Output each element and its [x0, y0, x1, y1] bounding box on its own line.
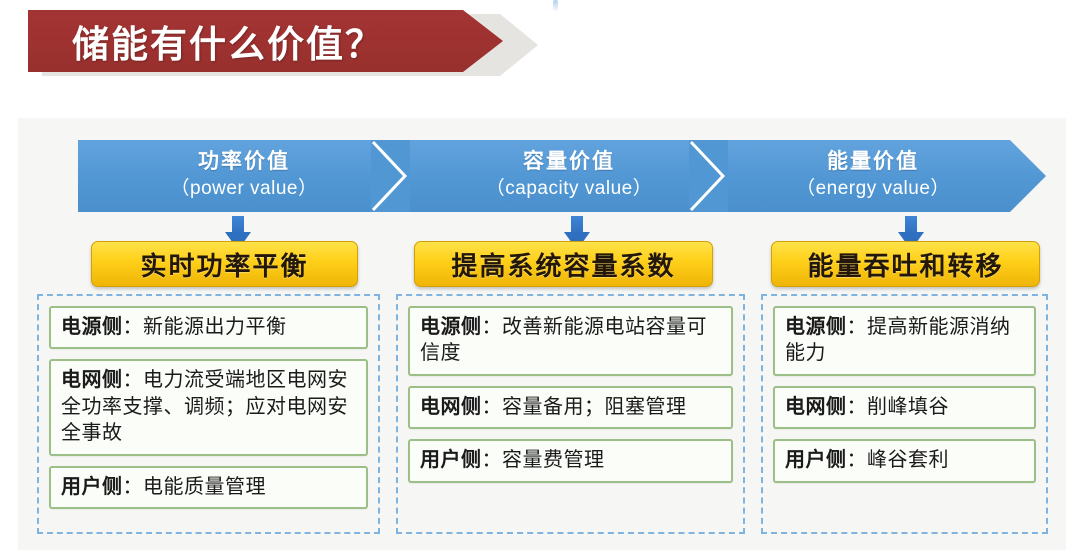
outcome-header-power[interactable]: 实时功率平衡: [91, 241, 358, 287]
value-segment-capacity[interactable]: 容量价值 （capacity value）: [410, 140, 728, 212]
list-item[interactable]: 电源侧：提高新能源消纳能力: [773, 306, 1036, 376]
outcome-header-energy-label: 能量吞吐和转移: [807, 246, 1003, 283]
list-item-text: 电网侧：容量备用；阻塞管理: [420, 394, 721, 420]
list-item-label: 用户侧: [785, 449, 847, 471]
outcome-header-capacity[interactable]: 提高系统容量系数: [414, 241, 713, 287]
outcome-header-power-label: 实时功率平衡: [140, 246, 308, 283]
list-item-value: 电能质量管理: [143, 476, 266, 498]
list-item-label: 电源侧: [785, 316, 847, 338]
list-item-text: 电源侧：新能源出力平衡: [61, 314, 356, 340]
list-item-text: 电源侧：改善新能源电站容量可信度: [420, 314, 721, 367]
list-item-sep: ：: [482, 396, 503, 418]
list-item-label: 电源侧: [420, 316, 482, 338]
list-item[interactable]: 电源侧：改善新能源电站容量可信度: [408, 306, 733, 376]
title-banner: 储能有什么价值？: [18, 10, 523, 76]
list-item-value: 削峰填谷: [867, 396, 949, 418]
list-item-text: 电网侧：削峰填谷: [785, 394, 1024, 420]
list-item-text: 电网侧：电力流受端地区电网安全功率支撑、调频；应对电网安全事故: [61, 367, 356, 446]
list-item-label: 用户侧: [61, 476, 123, 498]
value-segment-energy[interactable]: 能量价值 （energy value）: [728, 140, 1046, 212]
list-item-label: 电网侧: [61, 369, 123, 391]
list-item-sep: ：: [847, 449, 868, 471]
list-item-sep: ：: [123, 316, 144, 338]
list-item-label: 电网侧: [420, 396, 482, 418]
value-segment-energy-cn: 能量价值: [827, 150, 919, 174]
page-title: 储能有什么价值？: [72, 14, 384, 68]
list-item-value: 新能源出力平衡: [143, 316, 287, 338]
value-segment-power[interactable]: 功率价值 （power value）: [78, 140, 410, 212]
list-item-text: 用户侧：容量费管理: [420, 447, 721, 473]
list-item-label: 用户侧: [420, 449, 482, 471]
column-group-capacity: 电源侧：改善新能源电站容量可信度 电网侧：容量备用；阻塞管理 用户侧：容量费管理: [396, 294, 745, 534]
list-item[interactable]: 电网侧：容量备用；阻塞管理: [408, 386, 733, 429]
chevron-divider-icon: [371, 140, 411, 212]
column-group-energy: 电源侧：提高新能源消纳能力 电网侧：削峰填谷 用户侧：峰谷套利: [761, 294, 1048, 534]
value-segment-capacity-cn: 容量价值: [523, 150, 615, 174]
column-group-power: 电源侧：新能源出力平衡 电网侧：电力流受端地区电网安全功率支撑、调频；应对电网安…: [37, 294, 380, 534]
slide-canvas: 储能有什么价值？ 功率价值 （power value） 容量价值 （capaci…: [0, 0, 1080, 554]
list-item-sep: ：: [847, 396, 868, 418]
content-panel: 功率价值 （power value） 容量价值 （capacity value）…: [18, 118, 1066, 550]
list-item[interactable]: 用户侧：电能质量管理: [49, 466, 368, 509]
list-item-sep: ：: [482, 316, 503, 338]
list-item-text: 用户侧：峰谷套利: [785, 447, 1024, 473]
list-item[interactable]: 用户侧：峰谷套利: [773, 439, 1036, 482]
list-item[interactable]: 电网侧：电力流受端地区电网安全功率支撑、调频；应对电网安全事故: [49, 359, 368, 455]
list-item[interactable]: 电网侧：削峰填谷: [773, 386, 1036, 429]
list-item-sep: ：: [847, 316, 868, 338]
value-segment-energy-en: （energy value）: [796, 177, 950, 202]
list-item[interactable]: 电源侧：新能源出力平衡: [49, 306, 368, 349]
value-segment-power-en: （power value）: [171, 177, 318, 202]
list-item-sep: ：: [123, 369, 144, 391]
title-banner-chevron: 储能有什么价值？: [28, 10, 503, 72]
chevron-divider-icon: [689, 140, 729, 212]
decorative-speck: [553, 0, 558, 12]
list-item-sep: ：: [123, 476, 144, 498]
outcome-header-energy[interactable]: 能量吞吐和转移: [771, 241, 1040, 287]
list-item-text: 电源侧：提高新能源消纳能力: [785, 314, 1024, 367]
value-banner: 功率价值 （power value） 容量价值 （capacity value）…: [78, 140, 1046, 212]
list-item-text: 用户侧：电能质量管理: [61, 474, 356, 500]
list-item-value: 峰谷套利: [867, 449, 949, 471]
list-item-value: 容量费管理: [502, 449, 605, 471]
list-item-label: 电源侧: [61, 316, 123, 338]
value-segment-power-cn: 功率价值: [198, 150, 290, 174]
value-segment-capacity-en: （capacity value）: [486, 177, 652, 202]
list-item[interactable]: 用户侧：容量费管理: [408, 439, 733, 482]
list-item-sep: ：: [482, 449, 503, 471]
list-item-label: 电网侧: [785, 396, 847, 418]
list-item-value: 容量备用；阻塞管理: [502, 396, 687, 418]
outcome-header-capacity-label: 提高系统容量系数: [451, 246, 675, 283]
